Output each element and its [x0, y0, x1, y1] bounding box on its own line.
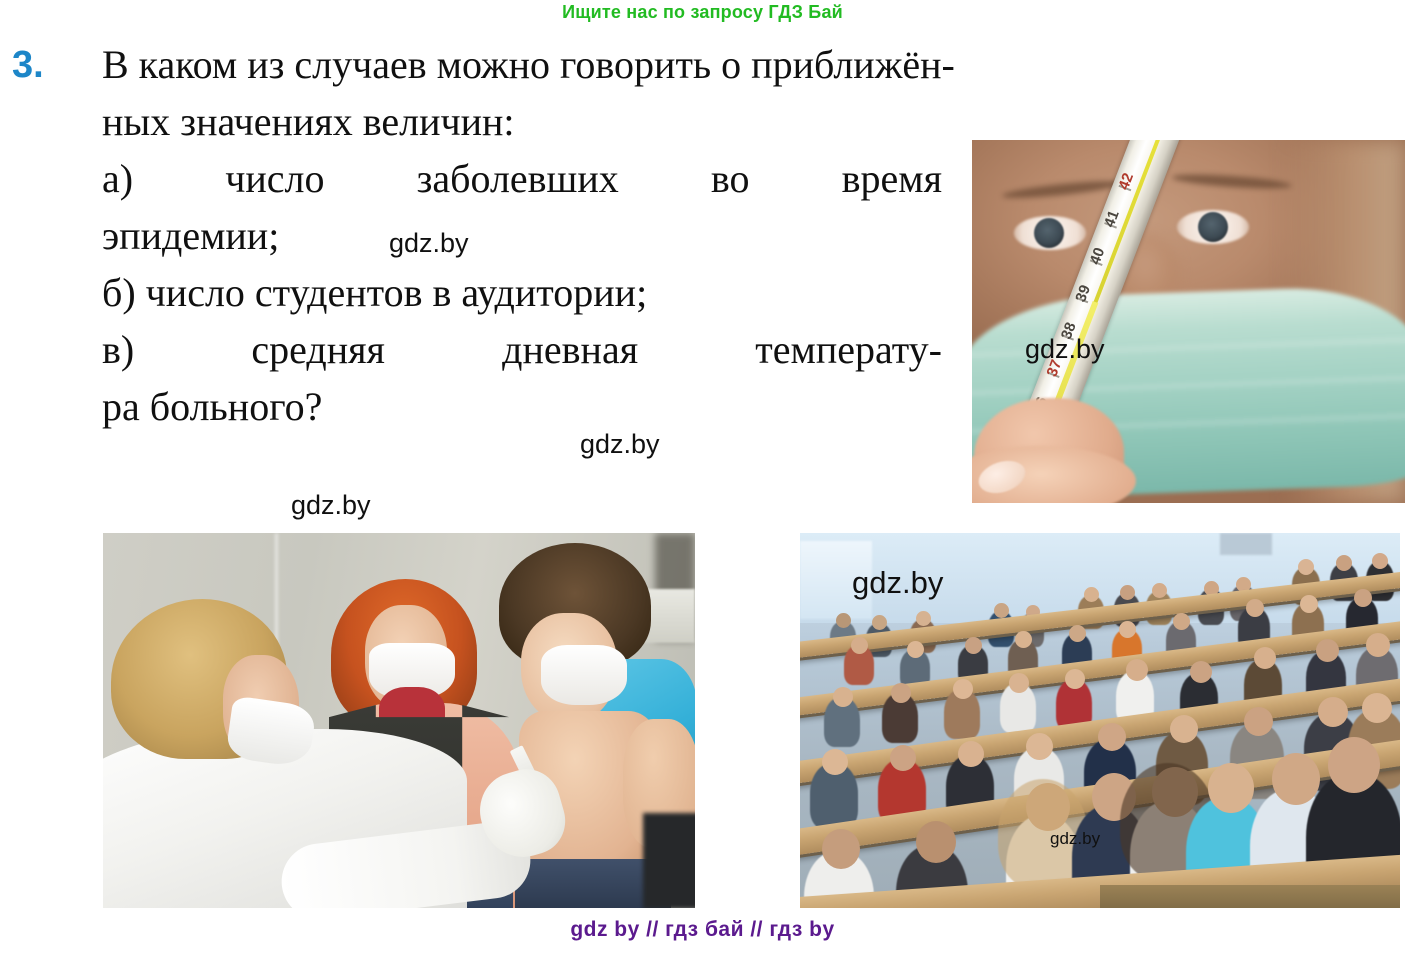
question-option-v-1: в) средняя дневная температу- [102, 321, 942, 378]
student-head [1328, 737, 1380, 793]
student-head [1272, 753, 1320, 805]
photo-vaccination [103, 533, 695, 908]
student-head [916, 821, 956, 863]
student-head [953, 679, 973, 699]
student-head [1026, 733, 1053, 760]
student-head [890, 745, 916, 771]
student-head [1372, 553, 1388, 569]
exercise-number: 3. [12, 44, 44, 87]
question-line-2: ных значениях величин: [102, 93, 942, 150]
student-head [1084, 587, 1099, 602]
student-head [1173, 613, 1190, 630]
ceiling-panel [1220, 533, 1272, 555]
watermark-lecture-photo-bottom: gdz.by [1050, 829, 1100, 849]
header-promo-text: Ищите нас по запросу ГДЗ Бай [0, 2, 1405, 23]
child-mask [541, 645, 627, 705]
adult-dark-clothing-right [643, 813, 695, 908]
student-head [1316, 639, 1339, 662]
student-head [1366, 633, 1390, 657]
photo-thermometer: 42 41 40 39 38 37 36 35 gdz.by [972, 140, 1405, 503]
student-head [836, 613, 851, 628]
watermark-body-1: gdz.by [389, 228, 469, 259]
student-head [1119, 621, 1136, 638]
student-head [907, 641, 924, 658]
student-head [822, 749, 848, 775]
student-head [1009, 673, 1029, 693]
student-head [1318, 697, 1348, 727]
student-head [1069, 625, 1086, 642]
student-head [1120, 585, 1135, 600]
worksheet-page: Ищите нас по запросу ГДЗ Бай 3. В каком … [0, 0, 1405, 955]
student-head [891, 683, 911, 703]
question-option-v-2: ра больного? [102, 378, 942, 435]
student-head [822, 829, 860, 869]
student-head [994, 603, 1009, 618]
student-head [1354, 589, 1372, 607]
watermark-thermometer-photo: gdz.by [1025, 334, 1105, 365]
iris-left [1034, 218, 1064, 248]
question-option-a-1: а) число заболевших во время [102, 150, 942, 207]
watermark-body-2: gdz.by [580, 429, 660, 460]
student-head [1152, 583, 1167, 598]
student-head [958, 741, 984, 767]
student-head [872, 615, 887, 630]
question-option-a-2: эпидемии; [102, 207, 942, 264]
student-head [1098, 723, 1126, 751]
question-option-b: б) число студентов в аудитории; [102, 264, 942, 321]
student-head [1208, 763, 1254, 813]
footer-promo-text: gdz by // гдз бай // гдз by [0, 918, 1405, 942]
student-head [1246, 599, 1264, 617]
student-head [1065, 669, 1085, 689]
student-head [916, 611, 931, 626]
student-head [1244, 707, 1273, 736]
student-head [1298, 559, 1314, 575]
student-head [1254, 647, 1276, 669]
question-text-block: В каком из случаев можно говорить о приб… [102, 36, 942, 435]
watermark-body-3: gdz.by [291, 490, 371, 521]
student-head [1170, 715, 1198, 743]
student-head [833, 687, 853, 707]
student-head [965, 637, 982, 654]
student-head [1336, 555, 1352, 571]
student-head [1126, 659, 1148, 681]
student-head [1190, 661, 1212, 683]
student-head [1015, 631, 1032, 648]
student-head [1300, 595, 1318, 613]
iris-right [1198, 212, 1228, 242]
desk-side-panel [1100, 885, 1400, 908]
watermark-lecture-photo-top: gdz.by [852, 565, 943, 601]
student-head [851, 637, 868, 654]
photo-lecture: gdz.by gdz.by [800, 533, 1400, 908]
student-head [1362, 693, 1392, 723]
question-line-1: В каком из случаев можно говорить о приб… [102, 36, 942, 93]
